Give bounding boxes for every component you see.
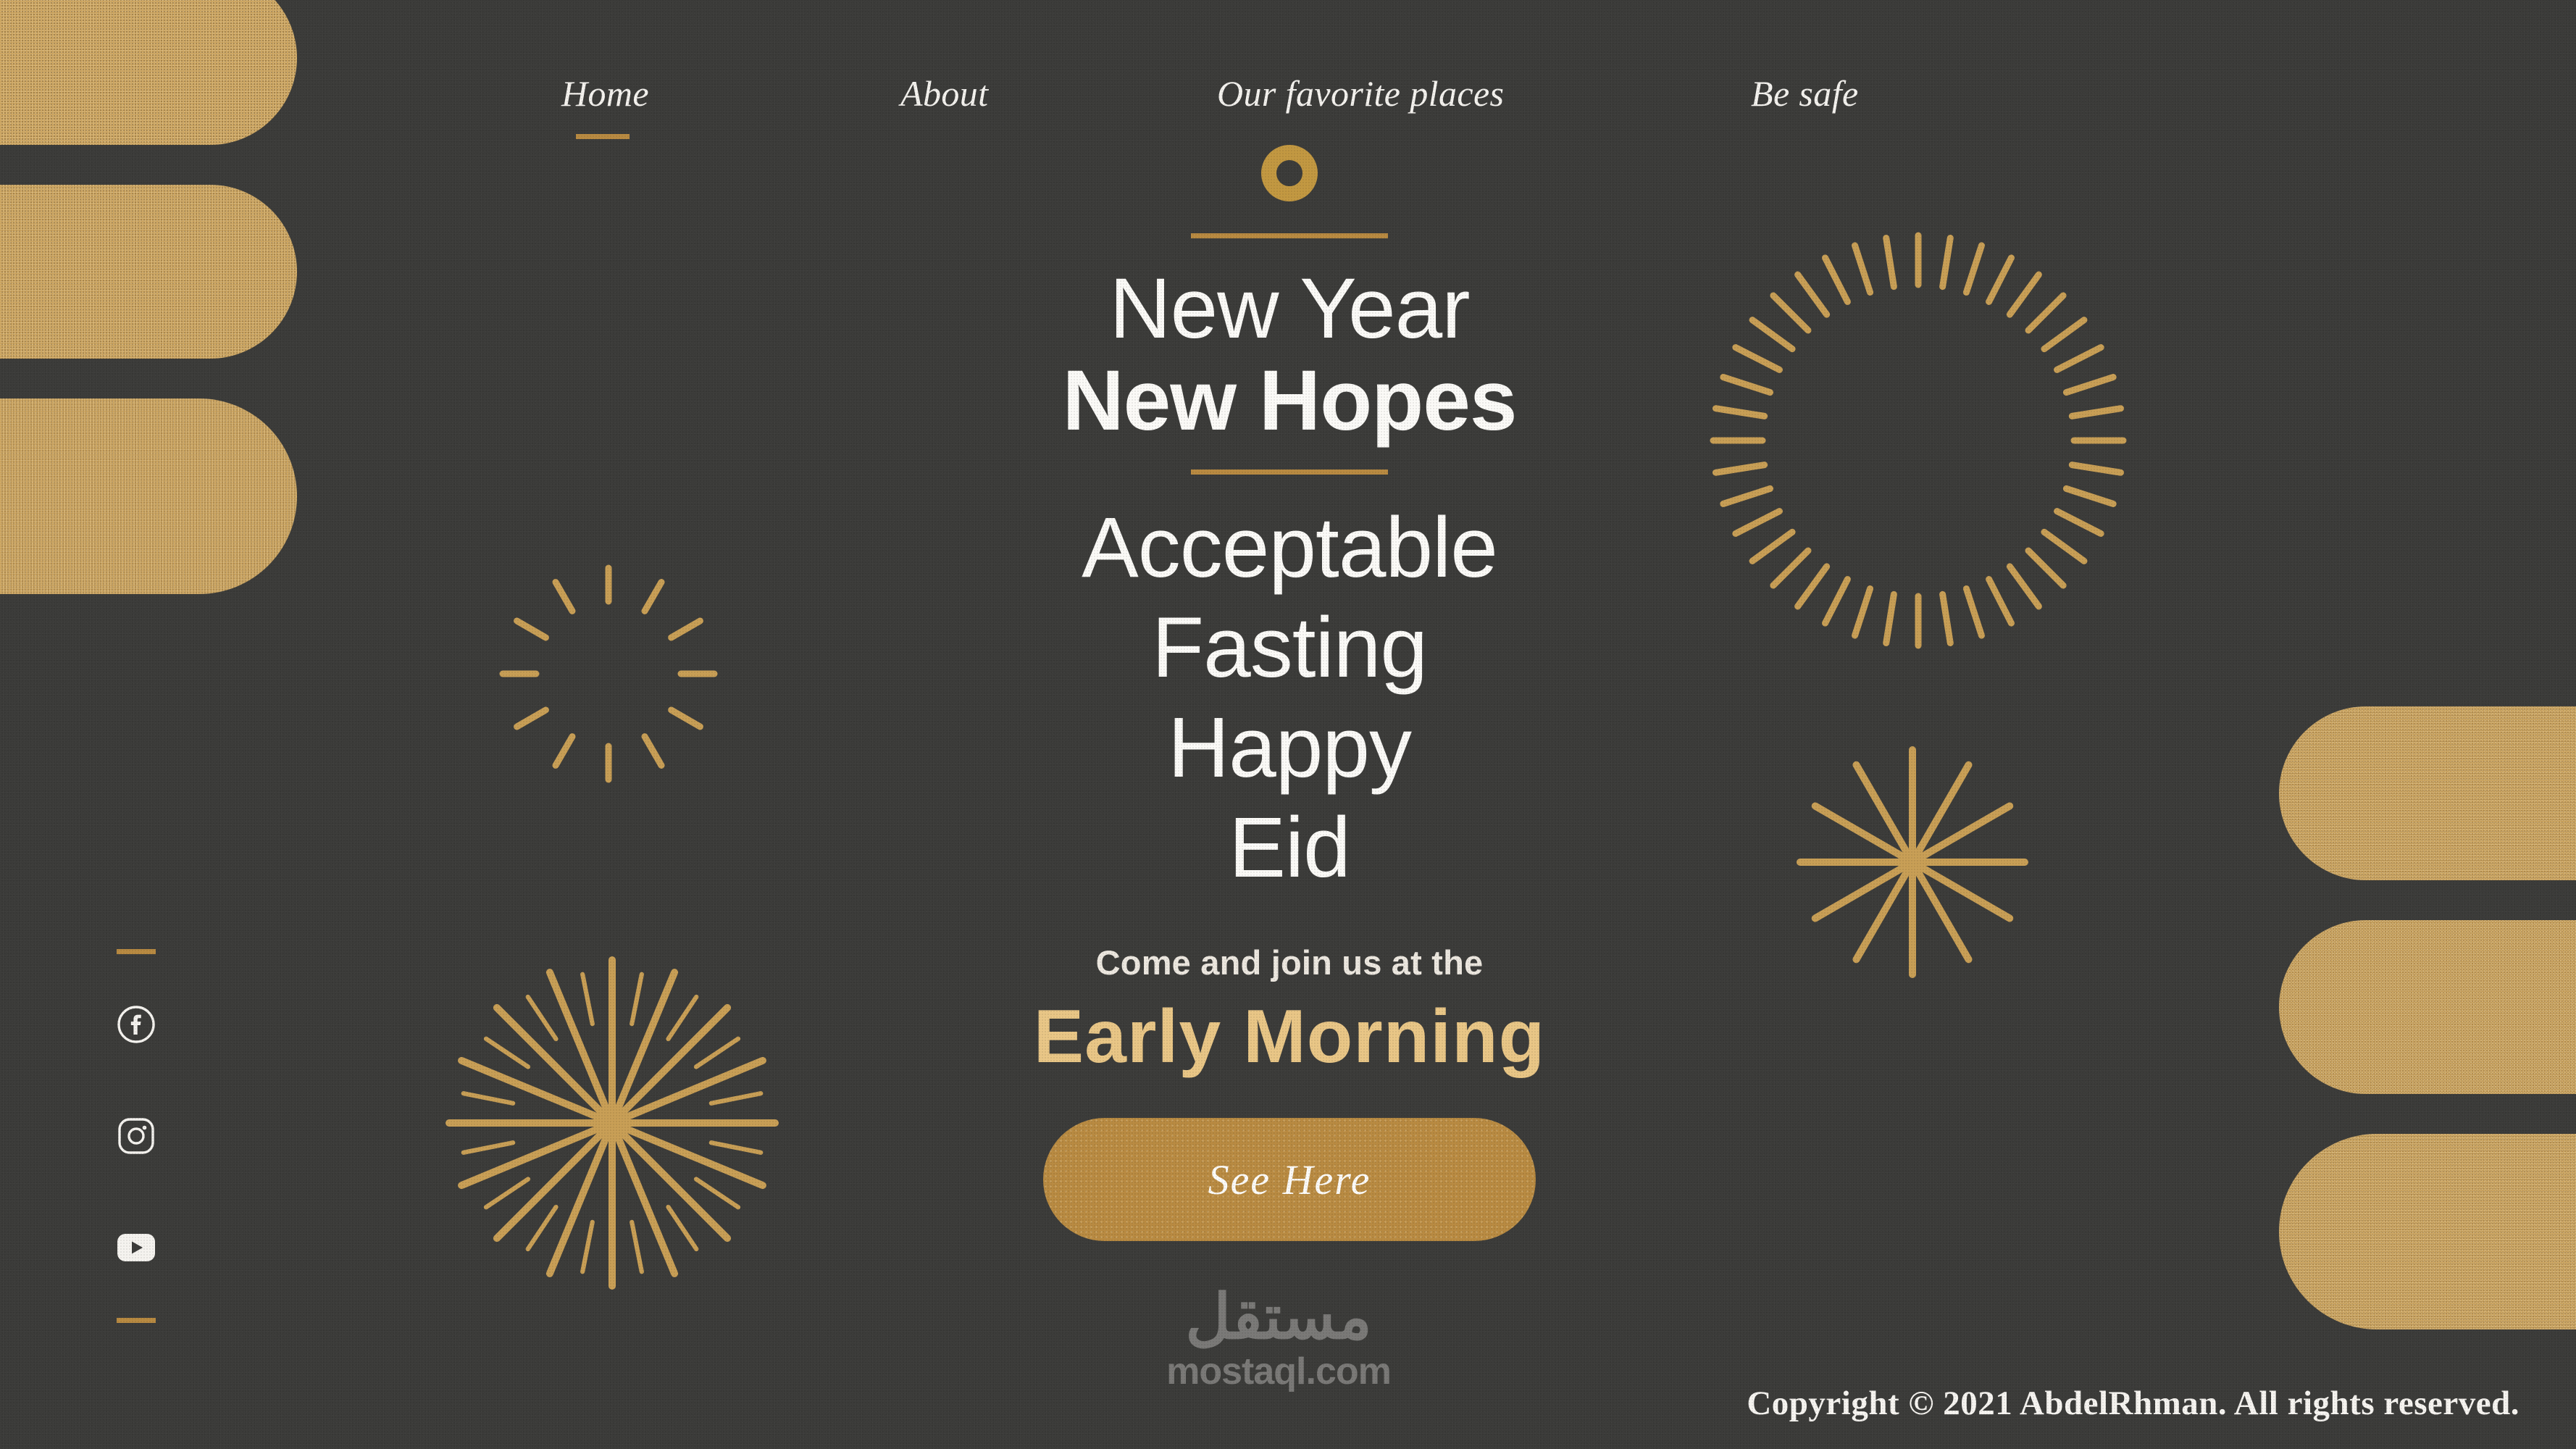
nav-active-underline — [576, 134, 630, 139]
watermark-arabic: مستقل — [1108, 1286, 1449, 1348]
event-name: Early Morning — [840, 994, 1739, 1080]
star-12-ray — [1791, 741, 2033, 983]
gold-bar-left-2 — [0, 185, 297, 359]
watermark-domain: mostaql.com — [1108, 1351, 1449, 1392]
greeting-line-2: Fasting — [840, 598, 1739, 698]
greeting-line-4: Eid — [840, 798, 1739, 898]
hero-title-line-1: New Year — [840, 263, 1739, 355]
facebook-icon[interactable] — [117, 1005, 156, 1044]
landing-page: Home About Our favorite places Be safe N… — [0, 0, 2576, 1449]
nav-item-our-favorite-places[interactable]: Our favorite places — [1217, 72, 1504, 114]
copyright-text: Copyright © 2021 AbdelRhman. All rights … — [1747, 1384, 2519, 1423]
gold-bar-right-3 — [2279, 1134, 2576, 1329]
rail-tick-bottom — [117, 1318, 156, 1323]
greeting-line-3: Happy — [840, 698, 1739, 798]
hero-divider-bottom — [1191, 469, 1388, 475]
nav-item-home[interactable]: Home — [561, 72, 649, 114]
social-rail — [93, 949, 180, 1323]
hero-section: New Year New Hopes Acceptable Fasting Ha… — [840, 145, 1739, 1241]
hero-divider-top — [1191, 233, 1388, 238]
greeting-line-1: Acceptable — [840, 498, 1739, 598]
gold-bar-right-1 — [2279, 706, 2576, 880]
nav-item-about[interactable]: About — [900, 72, 988, 114]
dashed-circle-small — [494, 559, 723, 788]
hero-title-line-2: New Hopes — [840, 355, 1739, 447]
gold-bar-right-2 — [2279, 920, 2576, 1094]
sunburst-large — [439, 950, 785, 1296]
rail-tick-top — [117, 949, 156, 954]
mostaql-watermark: مستقل mostaql.com — [1108, 1286, 1449, 1392]
join-text: Come and join us at the — [840, 943, 1739, 982]
see-here-button[interactable]: See Here — [1043, 1118, 1536, 1241]
instagram-icon[interactable] — [117, 1116, 156, 1156]
gold-bar-left-3 — [0, 398, 297, 594]
gold-ring-icon — [1261, 145, 1318, 201]
youtube-icon[interactable] — [117, 1228, 156, 1267]
nav-item-be-safe[interactable]: Be safe — [1751, 72, 1859, 114]
dashed-circle-large — [1705, 227, 2132, 654]
